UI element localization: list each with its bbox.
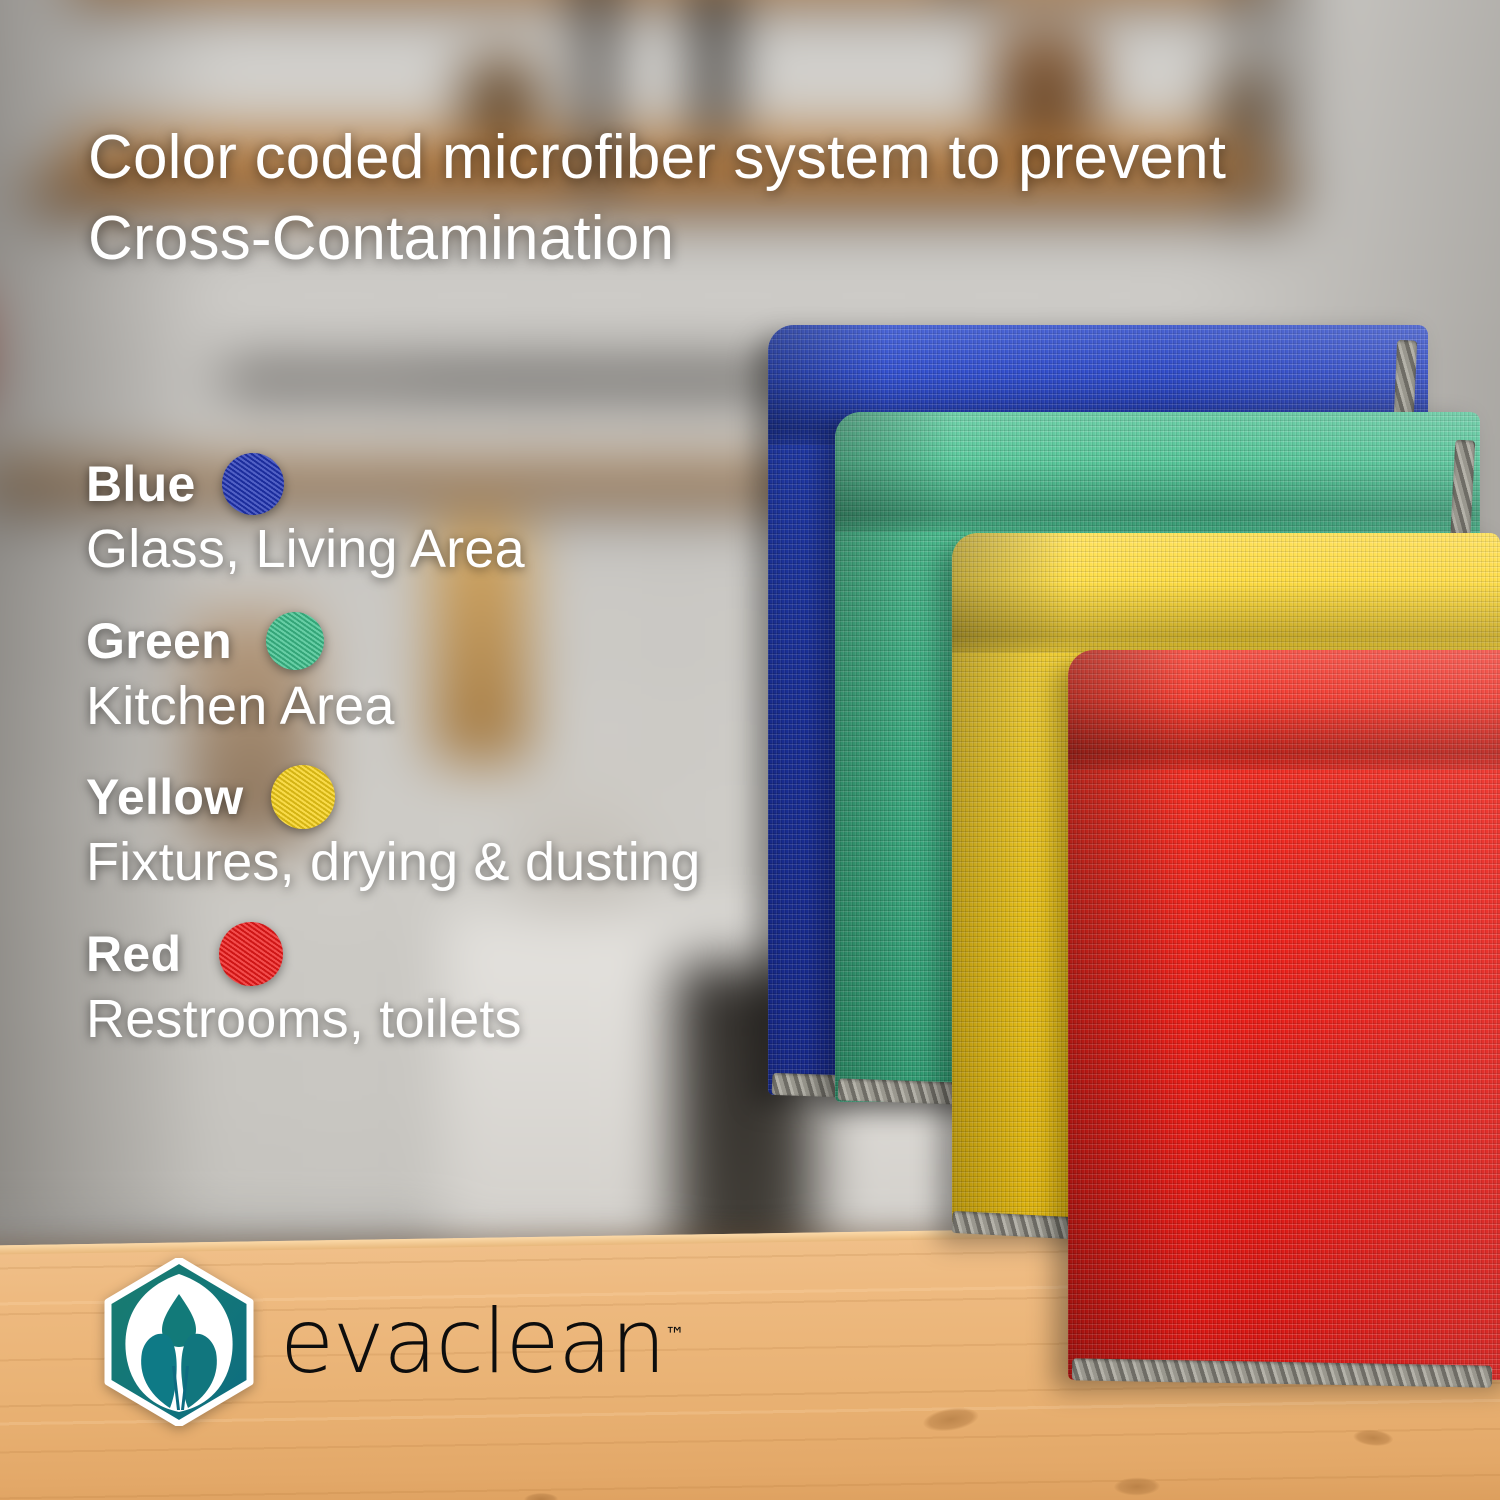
swatch-dot-green <box>266 612 324 670</box>
trademark-symbol: ™ <box>665 1323 685 1347</box>
headline-line-2: Cross-Contamination <box>88 199 1428 280</box>
product-infographic: Color coded microfiber system to prevent… <box>0 0 1500 1500</box>
color-legend: Blue Glass, Living Area Green Kitchen Ar… <box>86 452 846 1079</box>
brand-logo: evaclean™ <box>104 1258 685 1426</box>
swatch-dot-blue <box>222 453 284 515</box>
legend-color-name: Yellow <box>86 772 243 822</box>
legend-item-yellow: Yellow Fixtures, drying & dusting <box>86 765 846 894</box>
headline: Color coded microfiber system to prevent… <box>88 118 1428 279</box>
legend-description: Fixtures, drying & dusting <box>86 831 846 894</box>
legend-color-name: Blue <box>86 459 196 509</box>
legend-item-green: Green Kitchen Area <box>86 609 846 738</box>
legend-description: Glass, Living Area <box>86 518 846 581</box>
legend-item-blue: Blue Glass, Living Area <box>86 452 846 581</box>
headline-line-1: Color coded microfiber system to prevent <box>88 123 1226 192</box>
legend-item-red: Red Restrooms, toilets <box>86 922 846 1051</box>
legend-color-name: Green <box>86 616 232 666</box>
wordmark-text: evaclean <box>280 1290 665 1393</box>
legend-color-name: Red <box>86 929 181 979</box>
evaclean-wordmark: evaclean™ <box>280 1298 685 1386</box>
swatch-dot-yellow <box>271 765 335 829</box>
legend-description: Kitchen Area <box>86 675 846 738</box>
evaclean-hexagon-leaf-icon <box>104 1258 254 1426</box>
cloth-red <box>1068 650 1500 1380</box>
swatch-dot-red <box>219 922 283 986</box>
legend-description: Restrooms, toilets <box>86 988 846 1051</box>
